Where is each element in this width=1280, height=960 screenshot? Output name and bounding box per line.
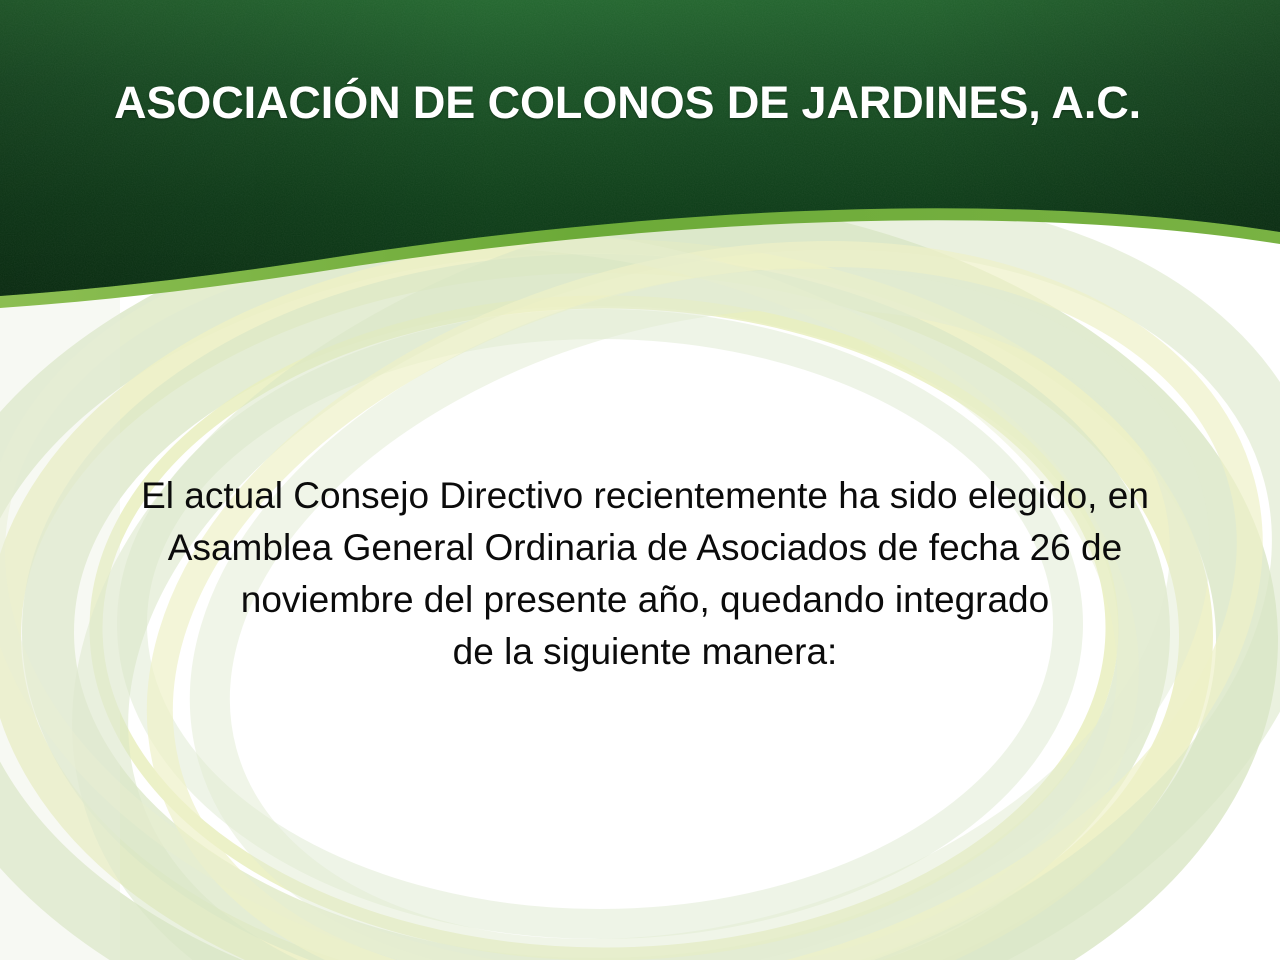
presentation-slide: ASOCIACIÓN DE COLONOS DE JARDINES, A.C. …: [0, 0, 1280, 960]
body-line: El actual Consejo Directivo recientement…: [64, 470, 1226, 522]
header-band-shading: [0, 0, 1280, 296]
title-block: ASOCIACIÓN DE COLONOS DE JARDINES, A.C.: [0, 78, 1280, 128]
header-band-group: [0, 0, 1280, 310]
page-title: ASOCIACIÓN DE COLONOS DE JARDINES, A.C.: [114, 78, 1280, 128]
header-rim: [0, 0, 1280, 308]
header-texture: [0, 0, 1280, 310]
body-line: Asamblea General Ordinaria de Asociados …: [64, 522, 1226, 574]
body-text-block: El actual Consejo Directivo recientement…: [64, 470, 1226, 678]
header-band: [0, 0, 1280, 296]
body-line: noviembre del presente año, quedando int…: [64, 574, 1226, 626]
body-line: de la siguiente manera:: [64, 626, 1226, 678]
